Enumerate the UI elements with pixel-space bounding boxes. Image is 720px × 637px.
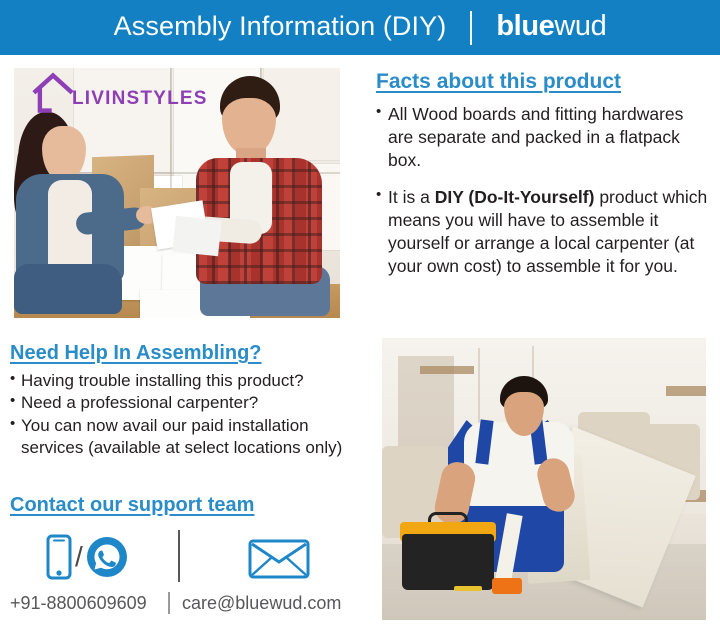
list-item: You can now avail our paid installation … (10, 415, 372, 459)
list-item: Having trouble installing this product? (10, 370, 372, 392)
fact-text-2-bold: DIY (Do-It-Yourself) (435, 187, 595, 207)
list-item: All Wood boards and fitting hardwares ar… (376, 103, 712, 172)
logo-text-light: wud (554, 10, 606, 42)
value-divider (168, 592, 170, 614)
livinstyles-label: LIVINSTYLES (72, 89, 208, 108)
bluewud-logo: bluewud (496, 12, 606, 44)
facts-bullet-list: All Wood boards and fitting hardwares ar… (376, 103, 712, 279)
facts-section: Facts about this product All Wood boards… (376, 70, 712, 292)
tape-measure (492, 578, 522, 594)
instruction-paper (172, 216, 222, 257)
contact-section: Contact our support team / (10, 494, 372, 614)
need-help-section: Need Help In Assembling? Having trouble … (10, 342, 372, 460)
contact-values-row: +91-8800609609 care@bluewud.com (10, 592, 372, 614)
fact-text-2-pre: It is a (388, 187, 435, 207)
page-header: Assembly Information (DIY) bluewud (0, 0, 720, 55)
logo-text-bold: blue (496, 10, 554, 42)
woman-jeans (14, 264, 122, 314)
contact-heading: Contact our support team (10, 494, 372, 518)
mobile-phone-icon[interactable] (46, 534, 72, 580)
contact-icon-row: / (10, 528, 372, 586)
image-carpenter-assembling (382, 338, 706, 620)
house-outline-icon (32, 72, 74, 114)
facts-heading: Facts about this product (376, 70, 712, 95)
image-couple-assembling: LIVINSTYLES (14, 68, 340, 318)
phone-number[interactable]: +91-8800609609 (10, 594, 168, 612)
email-address[interactable]: care@bluewud.com (182, 594, 341, 612)
list-item: It is a DIY (Do-It-Yourself) product whi… (376, 186, 712, 278)
toolbox-body (402, 534, 494, 590)
need-help-heading: Need Help In Assembling? (10, 342, 372, 366)
icon-divider (178, 530, 180, 582)
fact-text-1: All Wood boards and fitting hardwares ar… (388, 104, 683, 170)
need-help-bullet-list: Having trouble installing this product? … (10, 370, 372, 459)
mail-icon-wrap[interactable] (248, 538, 310, 585)
header-divider (470, 11, 472, 45)
wood-trim (420, 366, 474, 374)
envelope-icon[interactable] (248, 538, 310, 580)
phone-whatsapp-group[interactable]: / (46, 534, 128, 580)
screwdriver (454, 586, 482, 591)
list-item: Need a professional carpenter? (10, 392, 372, 414)
page-title: Assembly Information (DIY) (114, 13, 447, 42)
slash-separator: / (75, 543, 83, 571)
livinstyles-watermark: LIVINSTYLES (32, 72, 208, 114)
wood-trim (666, 386, 706, 396)
whatsapp-icon[interactable] (86, 536, 128, 578)
assembly-information-page: Assembly Information (DIY) bluewud (0, 0, 720, 637)
